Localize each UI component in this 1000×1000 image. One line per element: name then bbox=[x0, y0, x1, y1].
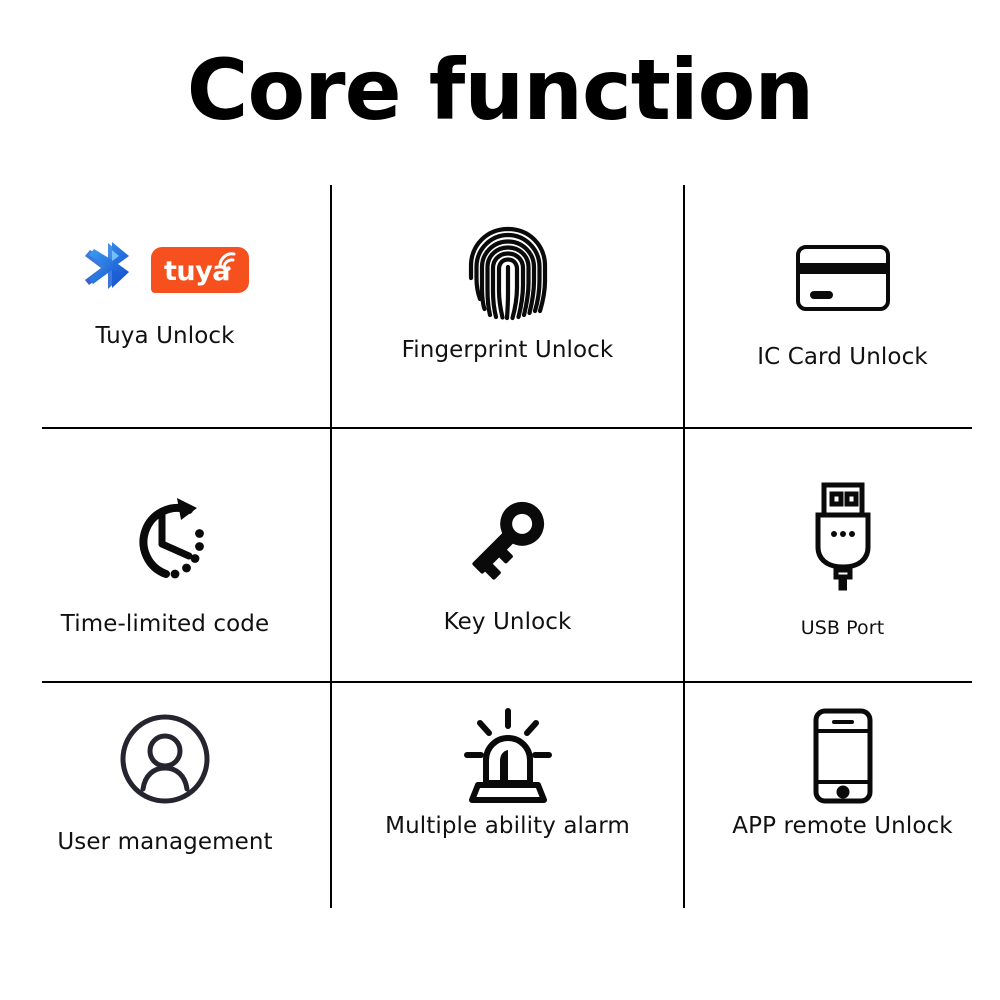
user-circle-icon bbox=[118, 712, 212, 810]
feature-cell-user-management: User management bbox=[0, 683, 330, 908]
feature-label-multiple-alarm: Multiple ability alarm bbox=[332, 813, 683, 839]
feature-cell-time-limited-code: Time-limited code bbox=[0, 429, 330, 681]
feature-label-app-remote-unlock: APP remote Unlock bbox=[685, 813, 1000, 839]
tuya-logo: tuya bbox=[151, 247, 249, 293]
feature-label-fingerprint-unlock: Fingerprint Unlock bbox=[332, 337, 683, 363]
bluetooth-icon bbox=[81, 240, 133, 300]
feature-cell-app-remote-unlock: APP remote Unlock bbox=[685, 683, 1000, 908]
core-function-infographic: Core function bbox=[0, 0, 1000, 1000]
key-icon bbox=[458, 486, 558, 594]
feature-label-ic-card-unlock: IC Card Unlock bbox=[685, 344, 1000, 370]
smartphone-icon bbox=[812, 708, 874, 808]
feature-cell-tuya-unlock: tuya Tuya Unlock bbox=[0, 185, 330, 427]
ic-card-icon bbox=[795, 244, 891, 316]
feature-cell-usb-port: USB Port bbox=[685, 429, 1000, 681]
feature-label-user-management: User management bbox=[0, 829, 330, 855]
siren-alarm-icon bbox=[457, 707, 559, 809]
feature-cell-key-unlock: Key Unlock bbox=[332, 429, 683, 681]
feature-cell-fingerprint-unlock: Fingerprint Unlock bbox=[332, 185, 683, 427]
clock-arrow-icon bbox=[113, 488, 217, 592]
feature-label-time-limited-code: Time-limited code bbox=[0, 611, 330, 637]
feature-label-key-unlock: Key Unlock bbox=[332, 609, 683, 635]
feature-cell-multiple-alarm: Multiple ability alarm bbox=[332, 683, 683, 908]
fingerprint-icon bbox=[460, 223, 556, 327]
usb-plug-icon bbox=[806, 481, 880, 595]
tuya-wifi-arc-icon bbox=[216, 251, 242, 273]
feature-cell-ic-card-unlock: IC Card Unlock bbox=[685, 185, 1000, 427]
feature-label-usb-port: USB Port bbox=[685, 617, 1000, 639]
feature-label-tuya-unlock: Tuya Unlock bbox=[0, 323, 330, 349]
feature-grid: tuya Tuya Unlock bbox=[0, 0, 1000, 1000]
